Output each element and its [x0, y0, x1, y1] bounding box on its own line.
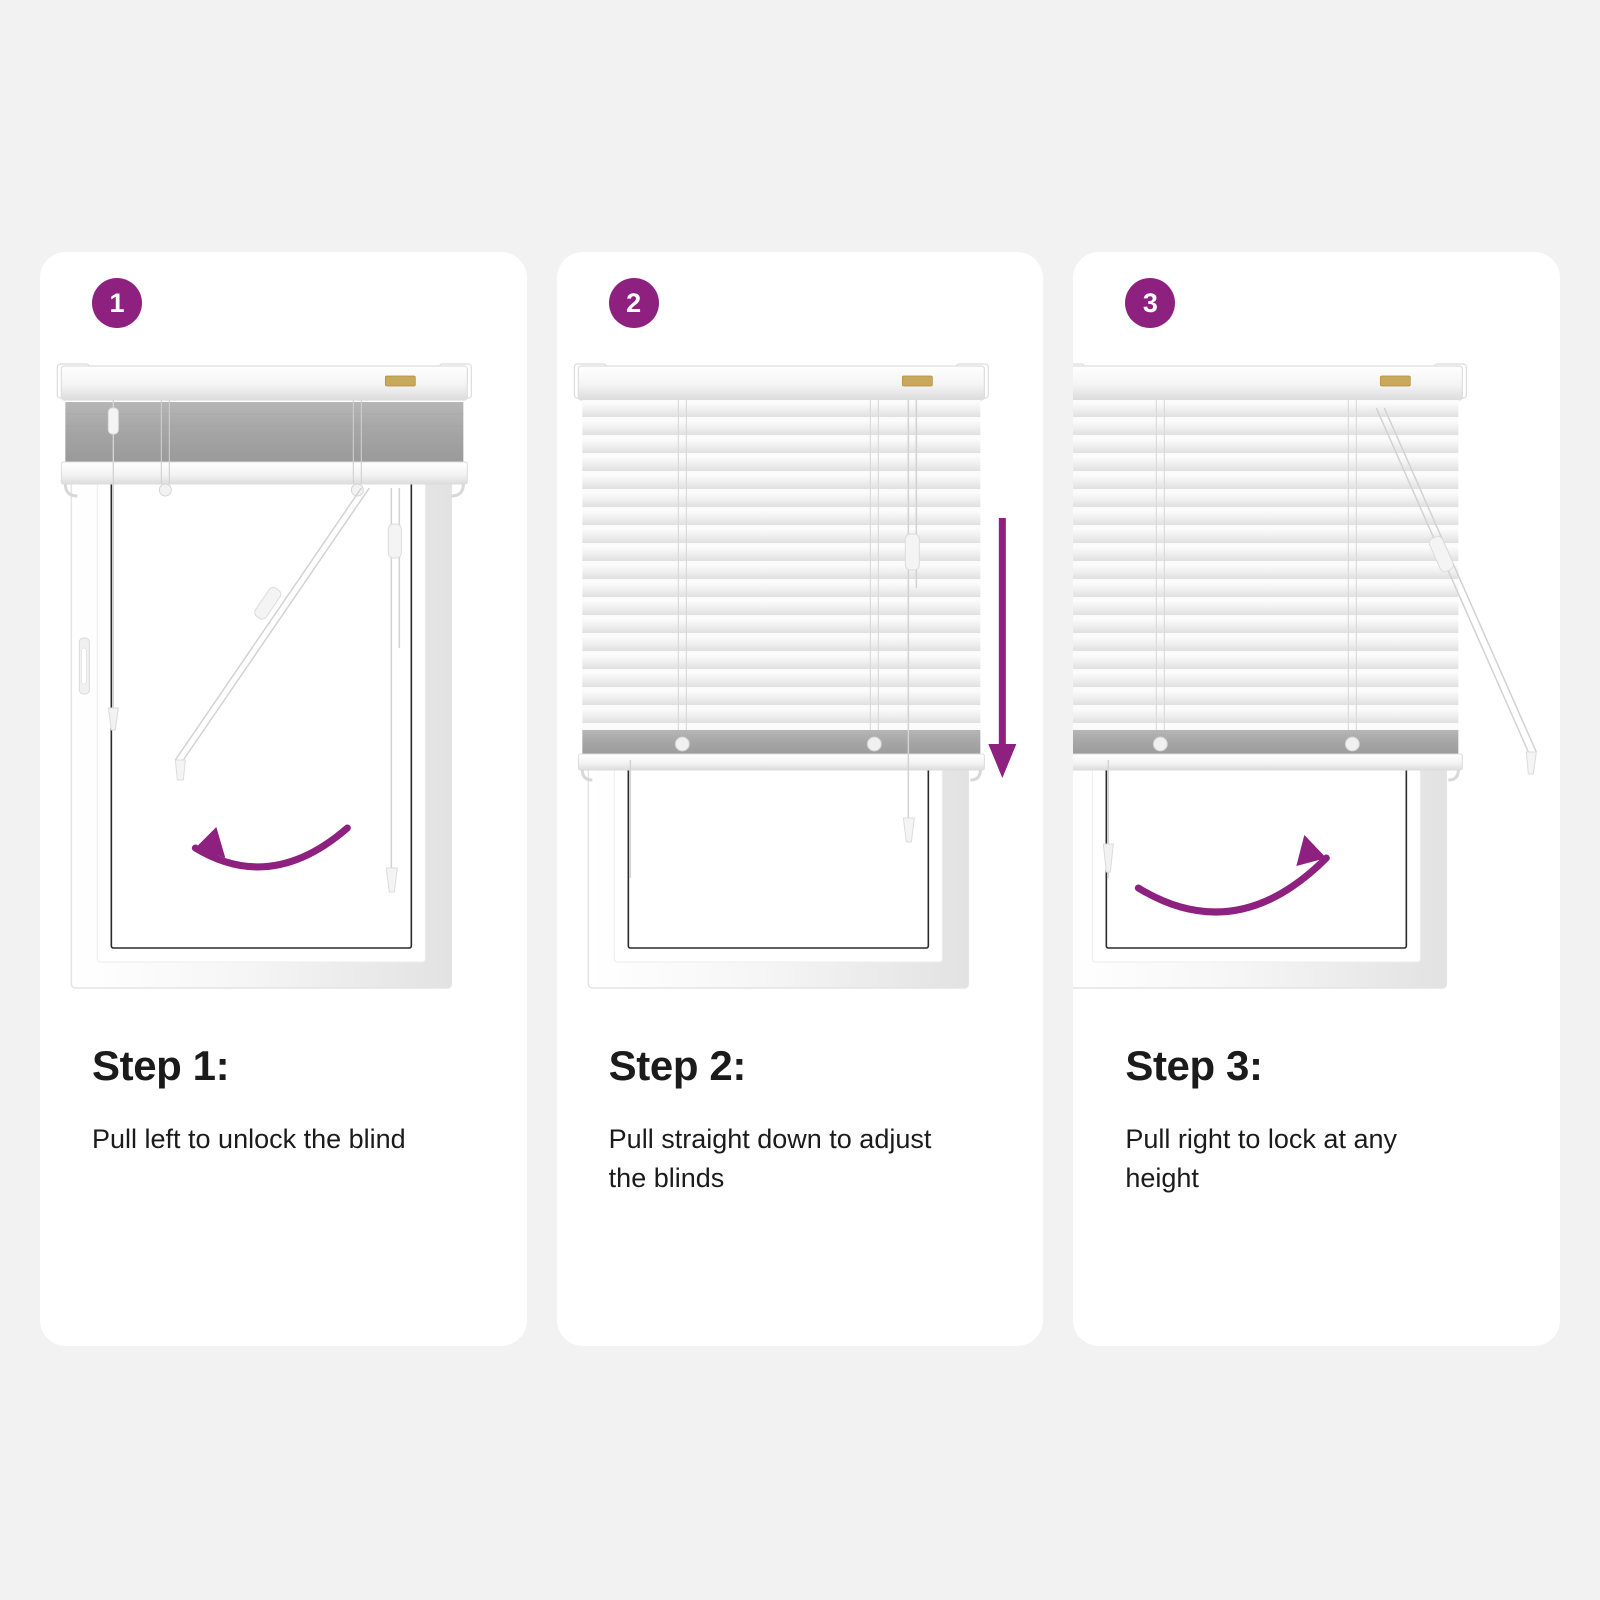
step-text-3: Step 3: Pull right to lock at any height [1125, 1042, 1520, 1198]
step-badge-2: 2 [609, 278, 659, 328]
step-text-1: Step 1: Pull left to unlock the blind [92, 1042, 487, 1159]
blind-slats-2 [582, 400, 980, 730]
straight-arrow-down-icon [988, 518, 1016, 778]
blind-headrail-2 [574, 364, 988, 400]
brand-label-1 [385, 376, 415, 386]
step-title-2: Step 2: [609, 1042, 1004, 1090]
brand-label-3 [1381, 376, 1411, 386]
step-description-3: Pull right to lock at any height [1125, 1120, 1455, 1198]
illustration-step-2 [557, 348, 1044, 1008]
blind-headrail-1 [57, 364, 471, 496]
step-card-1: 1 [40, 252, 527, 1346]
blind-slats-3 [1073, 400, 1458, 730]
step-description-2: Pull straight down to adjust the blinds [609, 1120, 939, 1198]
window-frame-1 [71, 434, 451, 988]
illustration-step-3 [1073, 348, 1560, 1008]
step-card-2: 2 [557, 252, 1044, 1346]
step-text-2: Step 2: Pull straight down to adjust the… [609, 1042, 1004, 1198]
step-title-3: Step 3: [1125, 1042, 1520, 1090]
step-description-1: Pull left to unlock the blind [92, 1120, 422, 1159]
brand-label-2 [902, 376, 932, 386]
step-badge-1: 1 [92, 278, 142, 328]
blind-headrail-3 [1073, 364, 1466, 400]
step-badge-3: 3 [1125, 278, 1175, 328]
window-handle-1 [79, 638, 89, 694]
instruction-page: 1 [0, 0, 1600, 1600]
illustration-step-1 [40, 348, 527, 1008]
step-title-1: Step 1: [92, 1042, 487, 1090]
step-card-3: 3 [1073, 252, 1560, 1346]
step-card-list: 1 [40, 252, 1560, 1346]
